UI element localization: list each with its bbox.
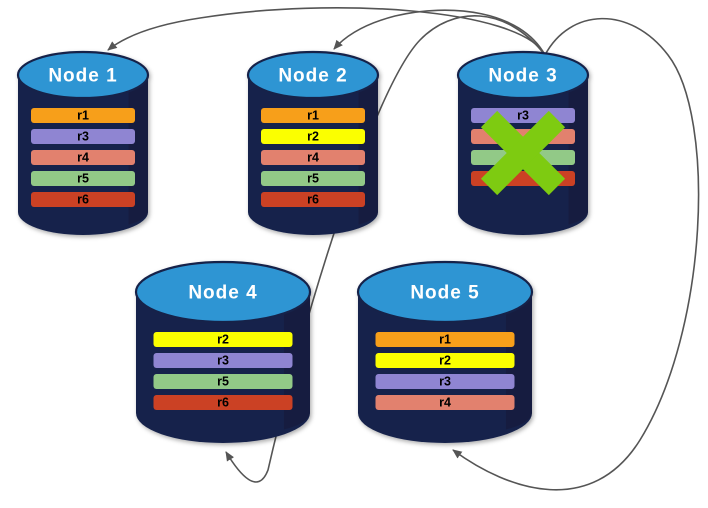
- record-bar[interactable]: r1: [31, 108, 135, 123]
- record-bar-label: r3: [217, 354, 229, 368]
- record-bar[interactable]: r2: [154, 332, 293, 347]
- node-layer: Node 1r1r3r4r5r6Node 2r1r2r4r5r6Node 3r3…: [18, 52, 588, 443]
- record-bar[interactable]: r3: [471, 108, 575, 123]
- record-bar-label: r4: [77, 151, 89, 165]
- record-bar[interactable]: r4: [261, 150, 365, 165]
- record-bar-label: r5: [217, 375, 229, 389]
- node-title: Node 1: [48, 66, 117, 87]
- record-bar-label: r4: [439, 396, 451, 410]
- record-bar-label: r5: [77, 172, 89, 186]
- record-bar-label: r3: [517, 109, 529, 123]
- node-title: Node 3: [488, 66, 557, 87]
- record-bar[interactable]: r5: [31, 171, 135, 186]
- record-bar[interactable]: r5: [154, 374, 293, 389]
- diagram-canvas: Node 1r1r3r4r5r6Node 2r1r2r4r5r6Node 3r3…: [0, 0, 708, 508]
- record-bar[interactable]: r6: [154, 395, 293, 410]
- record-bar-label: r2: [217, 333, 229, 347]
- record-bar-label: r3: [77, 130, 89, 144]
- node-title: Node 5: [410, 283, 479, 304]
- cylinder-shading: [569, 75, 589, 225]
- record-bar[interactable]: r1: [376, 332, 515, 347]
- record-bar-label: r6: [217, 396, 229, 410]
- database-node-4[interactable]: Node 4r2r3r5r6: [136, 262, 310, 443]
- record-bar[interactable]: r3: [154, 353, 293, 368]
- record-bar[interactable]: r6: [31, 192, 135, 207]
- record-bar[interactable]: r2: [261, 129, 365, 144]
- record-bar[interactable]: r3: [31, 129, 135, 144]
- database-node-5[interactable]: Node 5r1r2r3r4: [358, 262, 532, 443]
- record-bar-label: r2: [307, 130, 319, 144]
- record-bar[interactable]: r4: [31, 150, 135, 165]
- record-bar-label: r4: [307, 151, 319, 165]
- record-bar-label: r6: [77, 193, 89, 207]
- record-bar-label: r5: [307, 172, 319, 186]
- record-bar[interactable]: r3: [376, 374, 515, 389]
- node-title: Node 4: [188, 283, 257, 304]
- node-title: Node 2: [278, 66, 347, 87]
- arrow-node3-to-node1: [108, 8, 545, 55]
- database-node-1[interactable]: Node 1r1r3r4r5r6: [18, 52, 148, 235]
- database-node-3[interactable]: Node 3r3: [458, 52, 588, 235]
- record-bar[interactable]: r6: [261, 192, 365, 207]
- record-bar-label: r1: [439, 333, 451, 347]
- diagram-svg: Node 1r1r3r4r5r6Node 2r1r2r4r5r6Node 3r3…: [0, 0, 708, 508]
- record-bar[interactable]: r2: [376, 353, 515, 368]
- record-bar-label: r1: [307, 109, 319, 123]
- record-bar[interactable]: r5: [261, 171, 365, 186]
- record-bar[interactable]: r4: [376, 395, 515, 410]
- record-bar-label: r6: [307, 193, 319, 207]
- record-bar-label: r1: [77, 109, 89, 123]
- record-bar-label: r2: [439, 354, 451, 368]
- database-node-2[interactable]: Node 2r1r2r4r5r6: [248, 52, 378, 235]
- record-bar-label: r3: [439, 375, 451, 389]
- arrow-node3-to-node2: [334, 10, 545, 55]
- record-bar[interactable]: r1: [261, 108, 365, 123]
